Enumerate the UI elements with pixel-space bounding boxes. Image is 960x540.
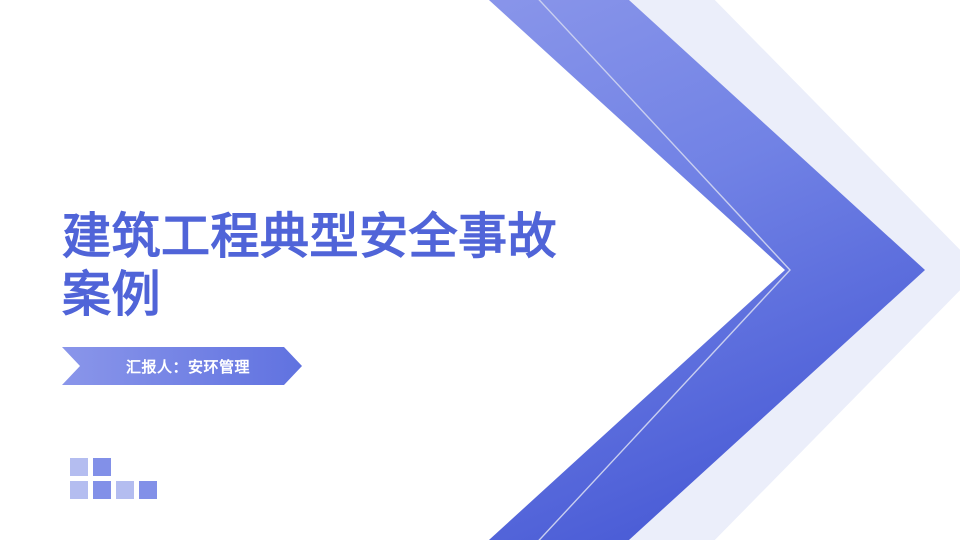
decorative-square bbox=[116, 481, 134, 499]
decorative-square bbox=[139, 481, 157, 499]
presenter-banner: 汇报人：安环管理 bbox=[62, 347, 302, 385]
page-title: 建筑工程典型安全事故 案例 bbox=[62, 208, 682, 324]
presenter-banner-label: 汇报人：安环管理 bbox=[62, 347, 302, 385]
decorative-squares-row bbox=[70, 481, 157, 499]
title-line-1: 建筑工程典型安全事故 bbox=[62, 208, 682, 266]
title-slide: 建筑工程典型安全事故 案例 汇报人：安环管理 bbox=[0, 0, 960, 540]
decorative-square bbox=[93, 458, 111, 476]
decorative-square bbox=[93, 481, 111, 499]
decorative-squares bbox=[70, 458, 157, 504]
title-line-2: 案例 bbox=[62, 266, 682, 324]
decorative-square bbox=[70, 458, 88, 476]
decorative-squares-row bbox=[70, 458, 157, 476]
decorative-square bbox=[70, 481, 88, 499]
